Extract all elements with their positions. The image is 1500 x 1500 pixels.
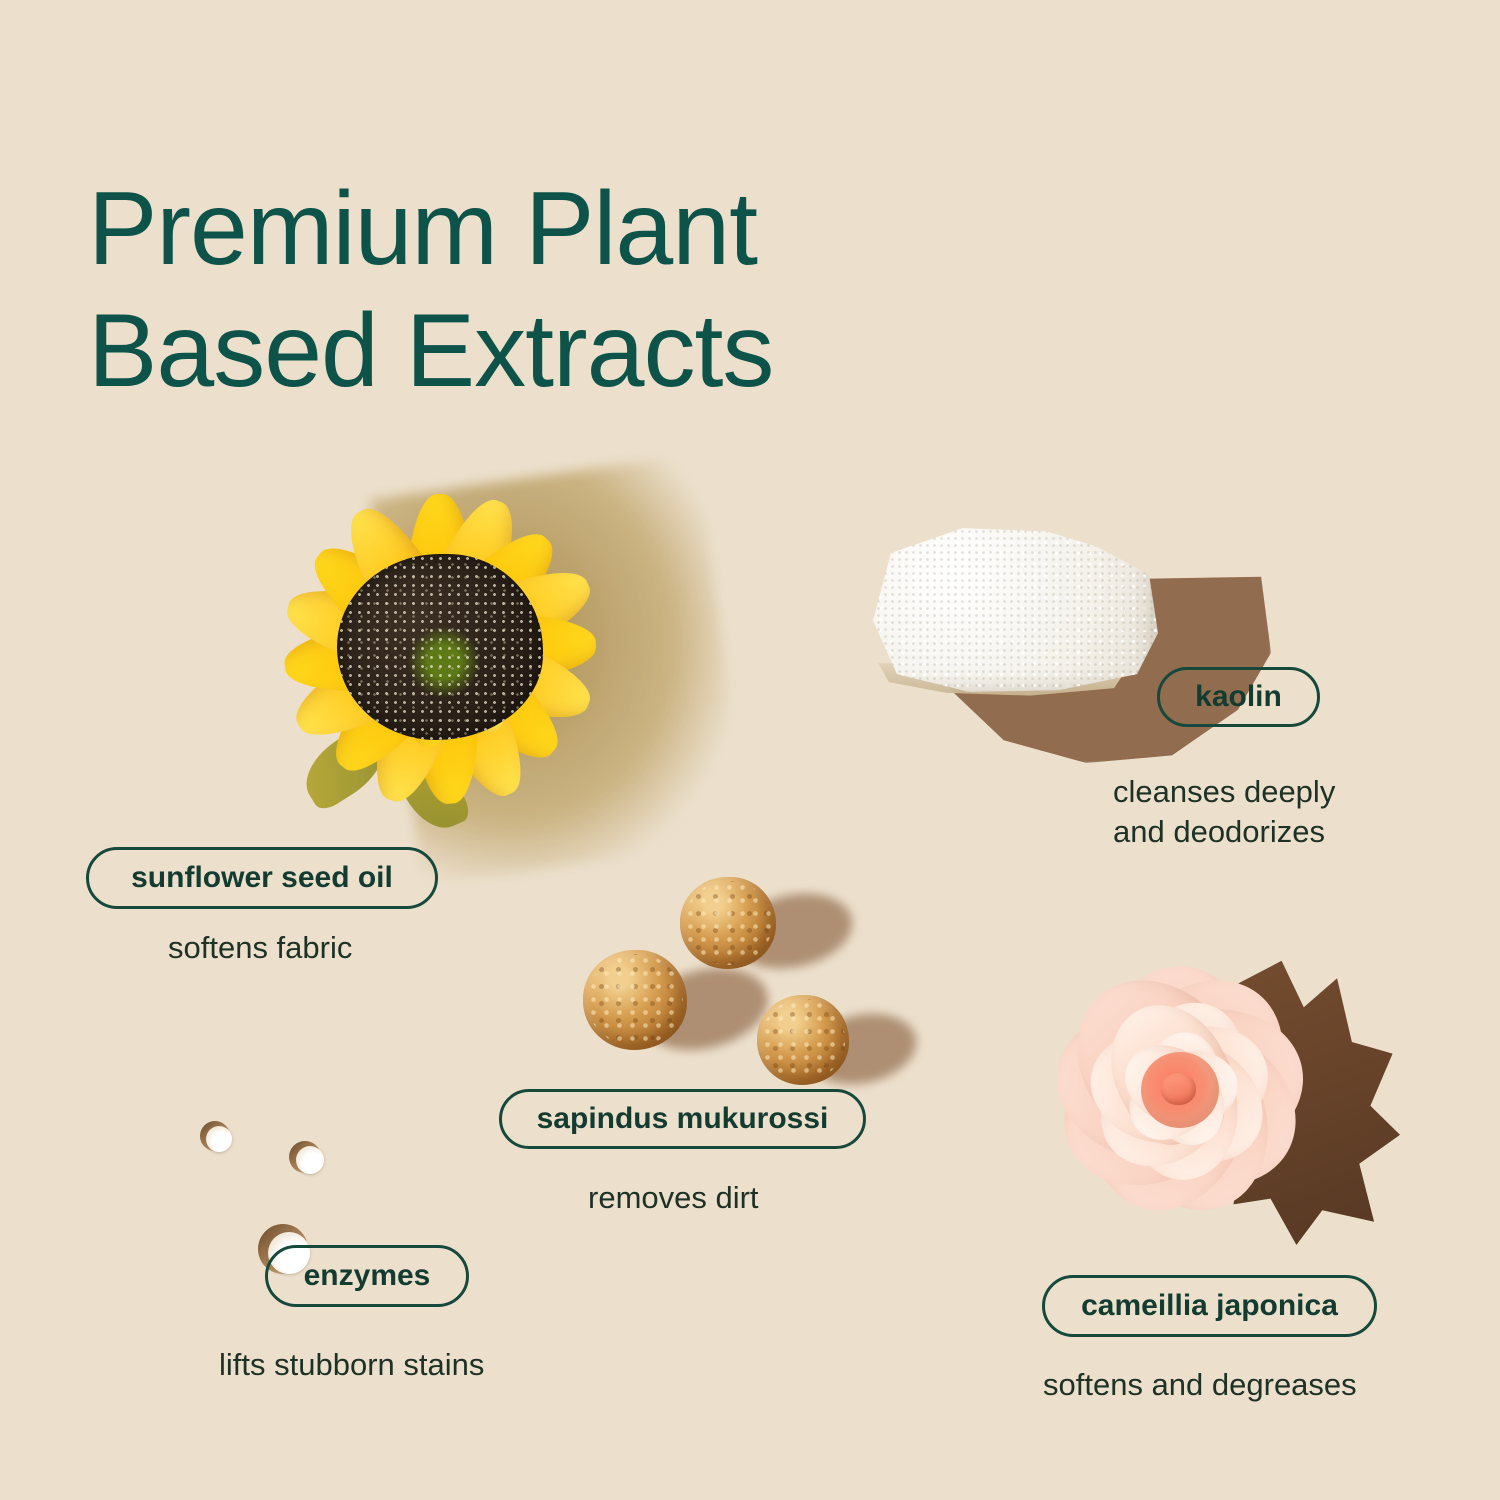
ingredient-caption-enzymes: lifts stubborn stains	[219, 1345, 484, 1385]
ingredient-label-sapindus-mukurossi[interactable]: sapindus mukurossi	[499, 1089, 866, 1149]
soapberry	[583, 950, 687, 1050]
sunflower-seed-head	[337, 554, 543, 740]
camellia-center	[1141, 1052, 1219, 1128]
enzyme-bead	[206, 1126, 232, 1152]
soapberries-photo	[575, 865, 885, 1100]
ingredient-label-kaolin[interactable]: kaolin	[1157, 667, 1320, 727]
soapberry	[757, 995, 849, 1085]
product-ingredients-infographic: Premium Plant Based Extracts	[0, 0, 1500, 1500]
kaolin-rock-photo	[845, 515, 1265, 765]
kaolin-rock-body	[861, 521, 1161, 699]
ingredient-label-enzymes[interactable]: enzymes	[265, 1245, 469, 1307]
ingredient-label-cameillia-japonica[interactable]: cameillia japonica	[1042, 1275, 1377, 1337]
soapberry	[680, 877, 776, 969]
ingredient-caption-sunflower-seed-oil: softens fabric	[168, 928, 352, 968]
page-title: Premium Plant Based Extracts	[88, 168, 1038, 413]
enzyme-bead	[296, 1146, 324, 1174]
ingredient-caption-sapindus-mukurossi: removes dirt	[588, 1178, 759, 1218]
ingredient-caption-cameillia-japonica: softens and degreases	[1043, 1365, 1357, 1405]
ingredient-caption-kaolin: cleanses deeply and deodorizes	[1113, 772, 1335, 851]
sunflower-photo	[180, 400, 700, 900]
ingredient-label-sunflower-seed-oil[interactable]: sunflower seed oil	[86, 847, 438, 909]
camellia-flower-photo	[955, 895, 1405, 1285]
